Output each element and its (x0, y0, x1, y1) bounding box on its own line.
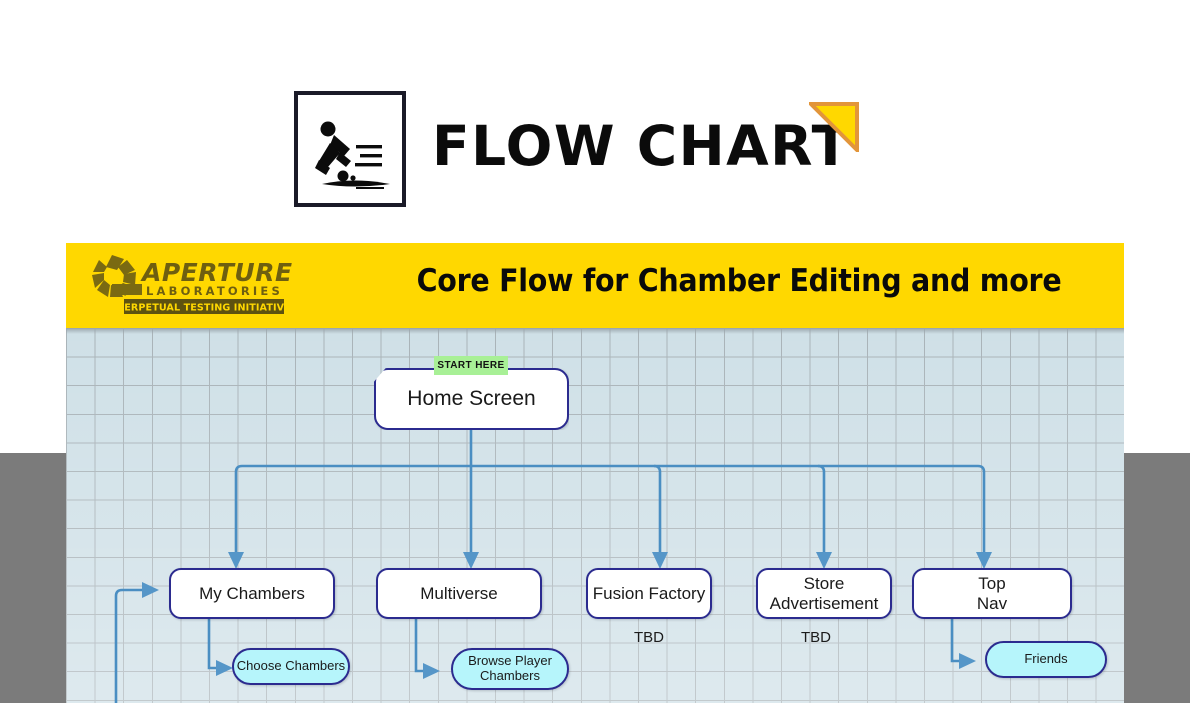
node-label: Fusion Factory (593, 584, 705, 603)
node-label: Choose Chambers (237, 659, 345, 674)
node-browse-player-chambers[interactable]: Browse Player Chambers (451, 648, 569, 690)
slide-canvas: FLOW CHART APERTURE LAB (0, 0, 1190, 703)
node-store-advertisement[interactable]: Store Advertisement (756, 568, 892, 619)
node-label: Multiverse (420, 584, 497, 603)
left-grey-panel (0, 453, 66, 703)
node-friends[interactable]: Friends (985, 641, 1107, 678)
page-title: FLOW CHART (432, 109, 851, 183)
node-label: Friends (1024, 652, 1067, 667)
slipping-person-glyph (306, 105, 402, 201)
node-label-line2: Chambers (468, 669, 552, 684)
node-label-line1: Browse Player (468, 654, 552, 669)
diagram-canvas: Home Screen START HERE My Chambers Multi… (66, 328, 1124, 703)
svg-text:APERTURE: APERTURE (140, 258, 293, 287)
banner: APERTURE LABORATORIES PERPETUAL TESTING … (66, 243, 1124, 328)
node-label-line1: Store (770, 574, 879, 593)
node-home-screen[interactable]: Home Screen (374, 368, 569, 430)
slide-header: FLOW CHART (294, 91, 854, 207)
status-badge: START HERE (434, 356, 508, 375)
yellow-triangle-accent (809, 102, 859, 152)
node-choose-chambers[interactable]: Choose Chambers (232, 648, 350, 685)
node-label: Store Advertisement (770, 574, 879, 612)
note-store-advertisement: TBD (771, 629, 861, 646)
node-label: My Chambers (199, 584, 305, 603)
node-label-line1: Top (977, 574, 1007, 593)
aperture-laboratories-logo: APERTURE LABORATORIES PERPETUAL TESTING … (84, 250, 306, 316)
svg-text:PERPETUAL TESTING INITIATIVE: PERPETUAL TESTING INITIATIVE (117, 303, 291, 314)
right-grey-panel (1124, 453, 1190, 703)
node-label: Browse Player Chambers (468, 654, 552, 683)
node-label: Top Nav (977, 574, 1007, 612)
node-fusion-factory[interactable]: Fusion Factory (586, 568, 712, 619)
node-label: Home Screen (407, 387, 535, 411)
svg-text:LABORATORIES: LABORATORIES (146, 284, 283, 298)
node-top-nav[interactable]: Top Nav (912, 568, 1072, 619)
slipping-person-icon (294, 91, 406, 207)
banner-title: Core Flow for Chamber Editing and more (403, 263, 1075, 299)
node-label-line2: Advertisement (770, 594, 879, 613)
connector-layer (66, 328, 1124, 703)
note-fusion-factory: TBD (604, 629, 694, 646)
node-label-line2: Nav (977, 594, 1007, 613)
node-multiverse[interactable]: Multiverse (376, 568, 542, 619)
arrowheads-down (228, 552, 992, 569)
node-my-chambers[interactable]: My Chambers (169, 568, 335, 619)
